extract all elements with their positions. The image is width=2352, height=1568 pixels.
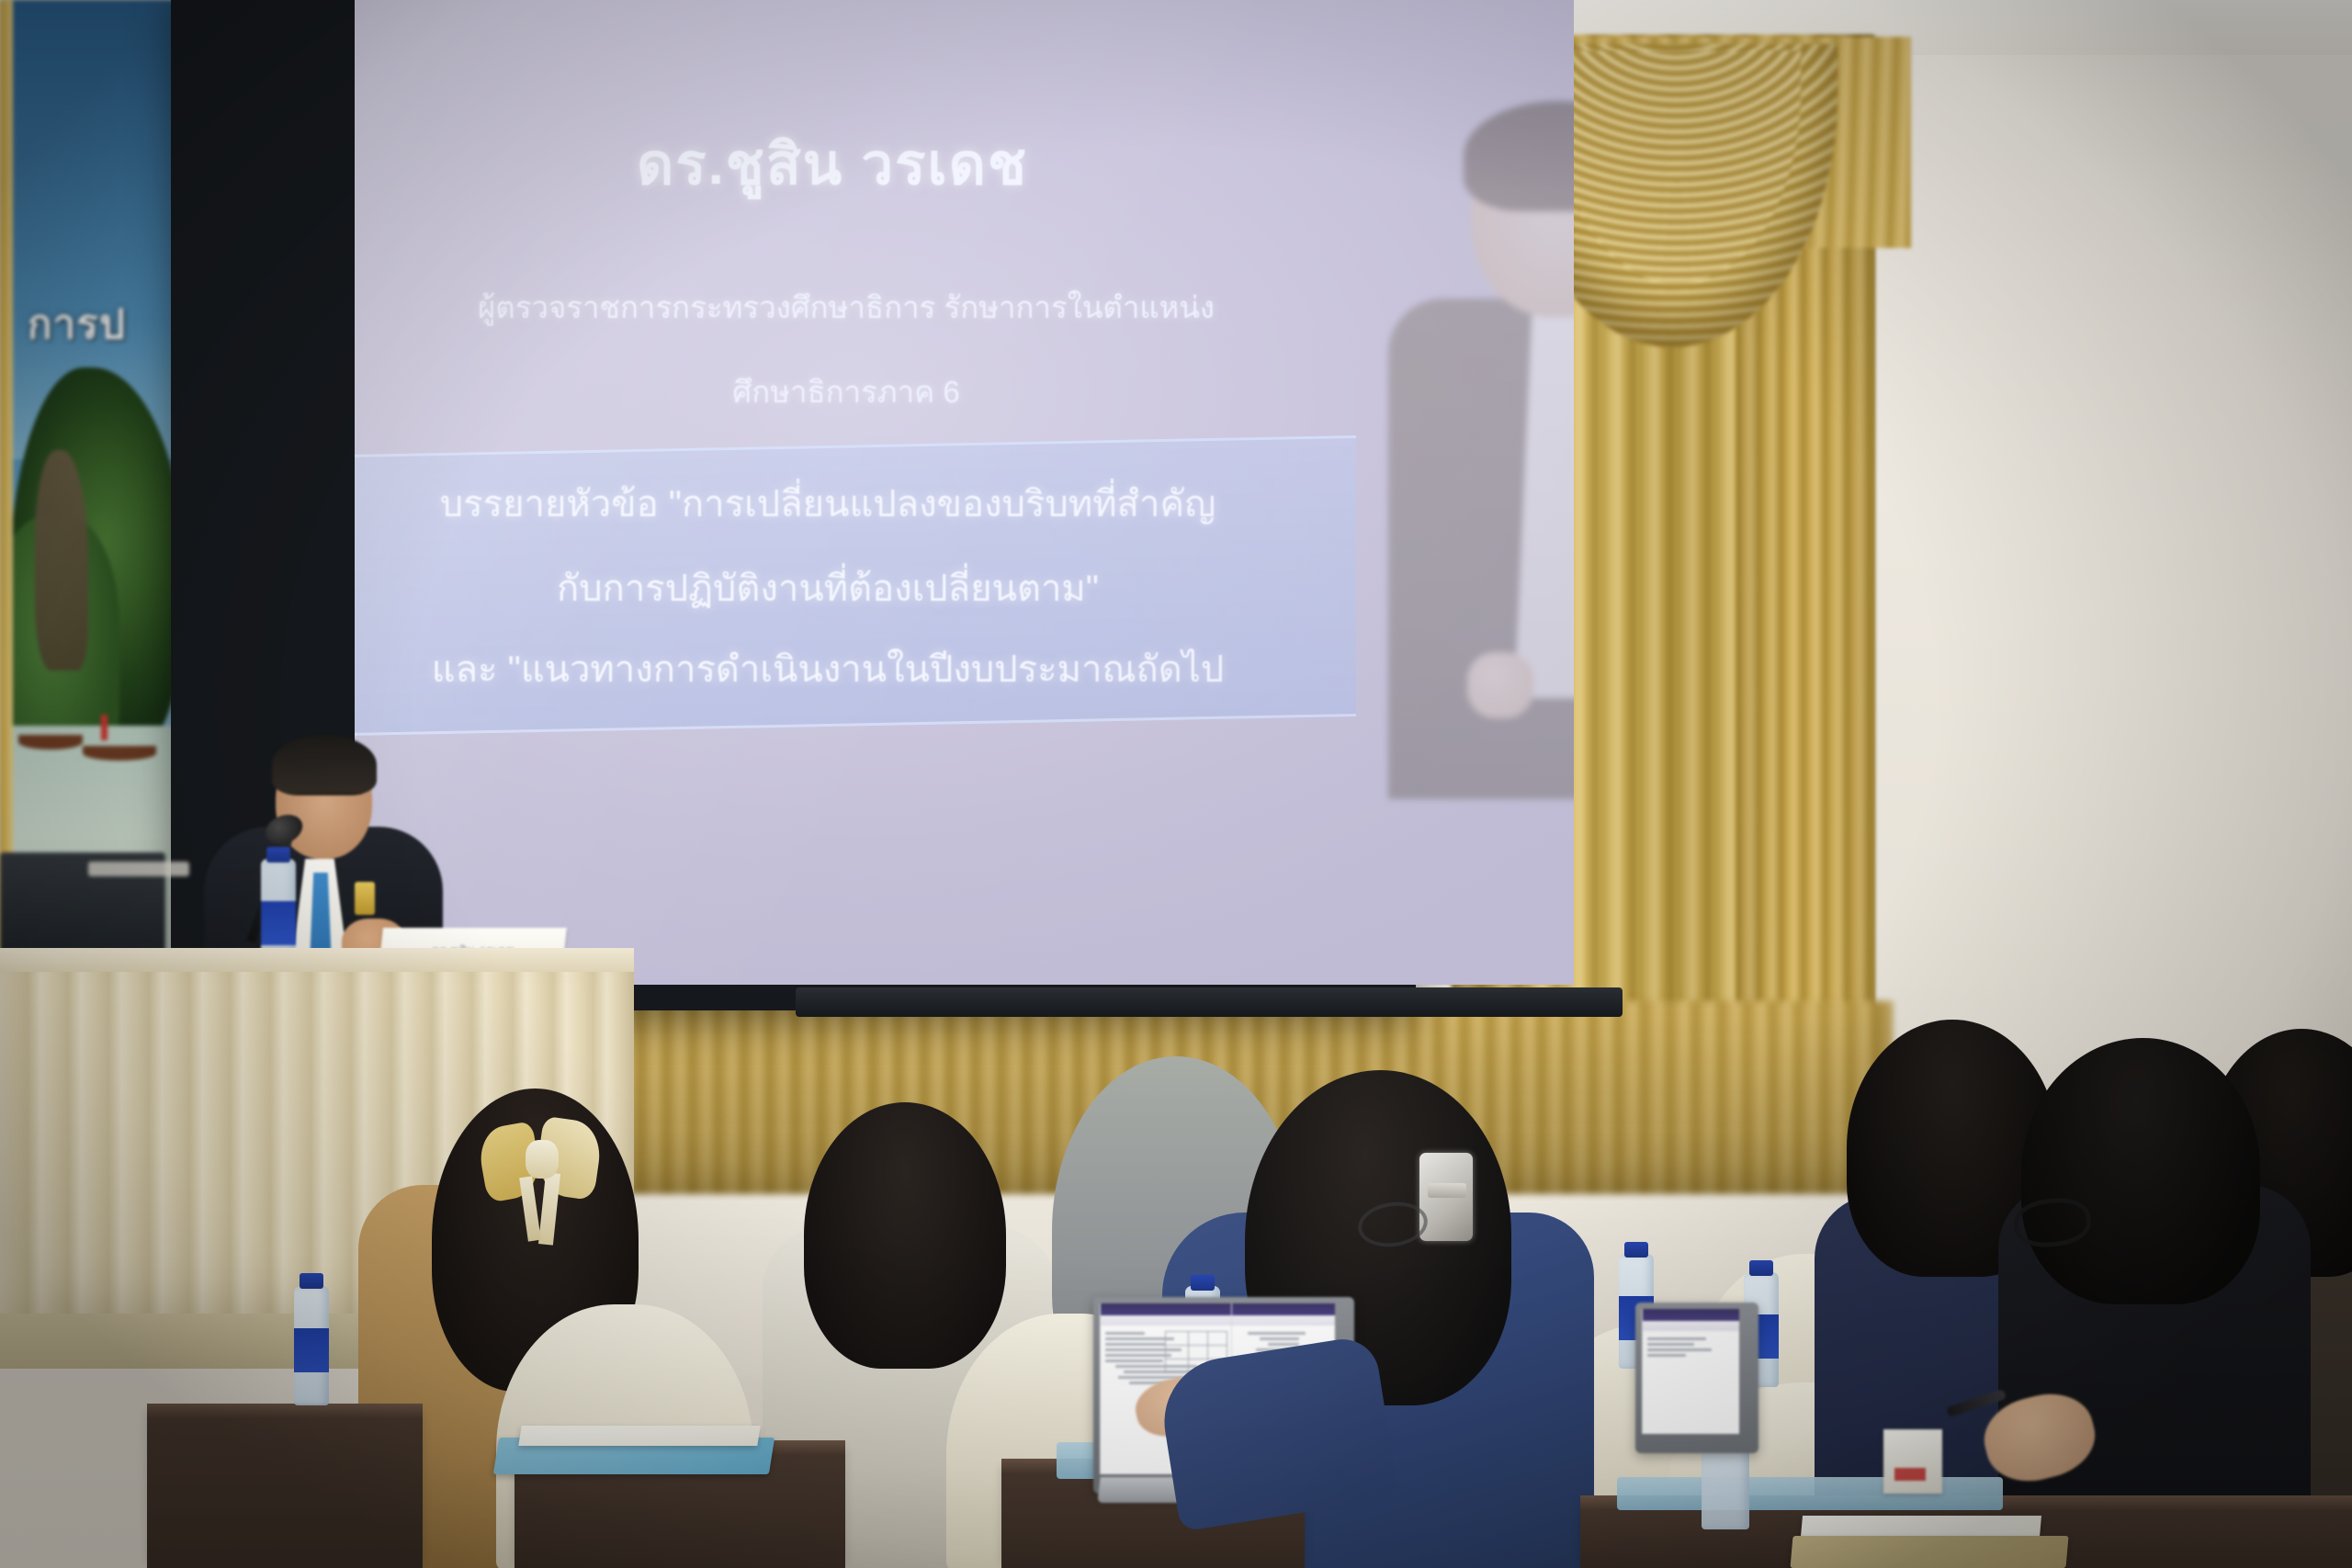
attendee-table-top	[147, 1404, 423, 1418]
water-bottle-cap	[1749, 1260, 1773, 1276]
portrait-glasses-icon	[1482, 189, 1574, 217]
laptop-screen[interactable]	[1642, 1309, 1739, 1434]
laptop-lid	[1635, 1303, 1758, 1453]
speaker-hair	[272, 735, 377, 795]
hair-bow-center-knot	[526, 1140, 559, 1179]
water-bottle	[294, 1286, 329, 1405]
document-folder	[1790, 1536, 2068, 1568]
water-bottle-cap	[266, 847, 290, 863]
word-ribbon	[1101, 1303, 1232, 1315]
hair-clip-bar	[1428, 1183, 1466, 1198]
paper-stack	[518, 1426, 760, 1446]
water-bottle-cap	[1191, 1275, 1215, 1291]
slide-body-line-2: กับการปฏิบัติงานที่ต้องเปลี่ยนตาม"	[355, 558, 1338, 617]
attendee-a-hair-bow	[481, 1116, 601, 1213]
slide-speaker-portrait	[1379, 101, 1574, 799]
slide-title: ดร.ชูสิน วรเดช	[483, 119, 1182, 209]
slide-body-line-3: และ "แนวทางการดำเนินงานในปีงบประมาณถัดไป	[355, 639, 1338, 698]
word-ribbon	[1232, 1303, 1335, 1315]
projection-screen: ดร.ชูสิน วรเดช ผู้ตรวจราชการกระทรวงศึกษา…	[355, 0, 1574, 985]
water-bottle-cap	[1624, 1242, 1648, 1258]
water-bottle-cap	[300, 1273, 323, 1289]
note-card-red-mark	[1894, 1468, 1926, 1481]
speaker-lapel-pin	[355, 882, 375, 915]
banner-left-rock-face	[35, 450, 88, 671]
banner-left-longtail-boat	[18, 735, 83, 750]
portrait-hand	[1467, 652, 1533, 718]
slide-subtitle-line-2: ศึกษาธิการภาค 6	[373, 367, 1319, 416]
banner-left-boat-flag	[101, 715, 107, 740]
table-cloth	[1617, 1477, 2003, 1510]
screen-roller-case	[796, 987, 1623, 1017]
attendee-table	[147, 1415, 423, 1568]
seminar-photograph: การป ปฏิบัติ ดร.ชูสิน วรเดช ผู้ตรวจราชกา…	[0, 0, 2352, 1568]
slide-body-line-1: บรรยายหัวข้อ "การเปลี่ยนแปลงของบริบทที่ส…	[355, 474, 1338, 533]
attendee-b-hair	[804, 1102, 1006, 1369]
word-ribbon	[1643, 1309, 1739, 1321]
head-table-top	[0, 948, 634, 972]
document-window[interactable]	[1642, 1309, 1739, 1434]
slide-subtitle-line-1: ผู้ตรวจราชการกระทรวงศึกษาธิการ รักษาการใ…	[373, 283, 1319, 332]
attendee-f-hair	[2021, 1038, 2260, 1304]
speaker-glasses-icon	[296, 792, 362, 807]
note-card	[1883, 1429, 1942, 1494]
banner-left-longtail-boat	[83, 746, 156, 761]
document-body	[1643, 1331, 1739, 1434]
monitor-label-strip	[88, 862, 189, 876]
